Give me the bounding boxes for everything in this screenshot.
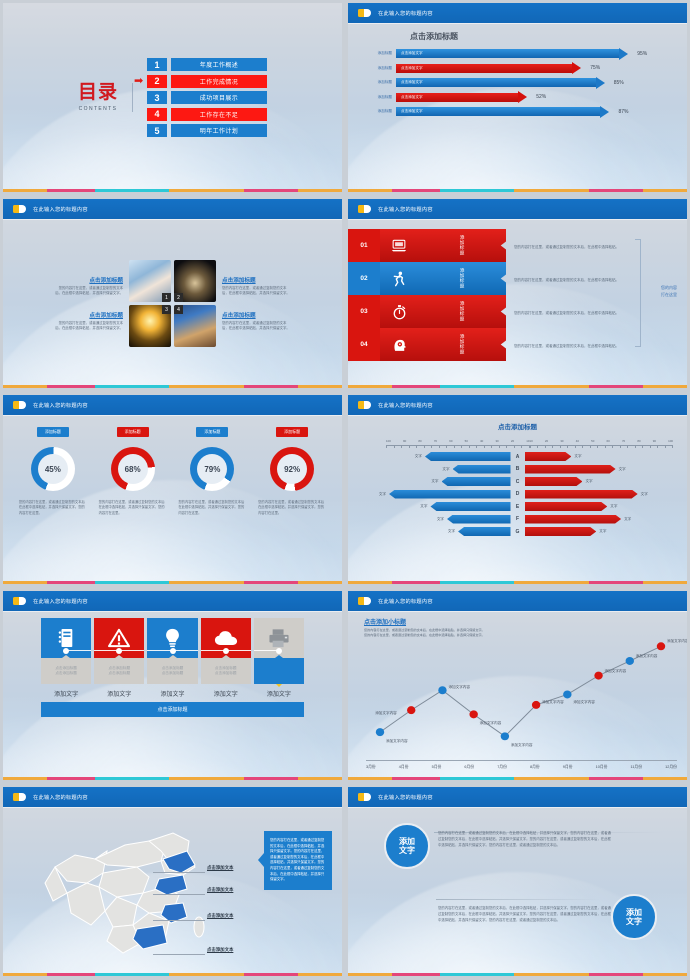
leader-line	[153, 872, 205, 873]
donut-chart-row: 添加标题45%您的内容打在这里，或者通过复制您的文本后在此框中选择粘贴，并选择只…	[13, 419, 332, 580]
axis-tick	[469, 446, 470, 448]
icon-card[interactable]: 点击添加标题点击添加标题添加文字	[201, 618, 251, 702]
right-label: 文字	[599, 529, 606, 534]
x-axis-line	[366, 760, 677, 761]
pointer-triangle-icon	[276, 684, 282, 687]
color-strip	[348, 973, 687, 976]
left-bar[interactable]	[425, 452, 511, 461]
row-key: A	[511, 454, 525, 460]
data-point[interactable]	[626, 657, 634, 665]
donut-chip-label[interactable]: 添加标题	[117, 427, 149, 437]
timeline-dot	[170, 648, 176, 654]
map-callout-label[interactable]: 点击添加文本	[207, 913, 233, 919]
axis-tick	[620, 446, 621, 448]
leader-line	[153, 920, 205, 921]
axis-tick	[567, 446, 568, 448]
bar-category: 添加标题	[366, 66, 392, 71]
donut-chip-label[interactable]: 添加标题	[276, 427, 308, 437]
arrow-head	[600, 106, 609, 118]
card-caption: 添加文字	[41, 684, 91, 702]
axis-tick	[386, 446, 387, 448]
arrow-bar[interactable]: 点击添加文字	[396, 49, 628, 58]
donut-ring: 45%	[31, 447, 75, 491]
axis-tick-label: 40	[480, 439, 483, 443]
data-point[interactable]	[563, 690, 571, 698]
strip-segment	[169, 385, 244, 388]
contents-row[interactable]: 5明年工作计划	[147, 124, 267, 137]
contents-row[interactable]: 1年度工作概述	[147, 58, 267, 71]
card-subtitle	[254, 658, 304, 684]
header-title: 在此输入您的标题内容	[378, 10, 433, 17]
strip-segment	[3, 189, 47, 192]
slide-header: 在此输入您的标题内容	[348, 199, 687, 219]
data-point[interactable]	[469, 710, 477, 718]
donut-ring: 79%	[190, 447, 234, 491]
strip-segment	[298, 385, 342, 388]
photo-2[interactable]: 2	[174, 260, 216, 302]
timeline-dot	[276, 648, 282, 654]
card-subtitle: 点击添加标题点击添加标题	[201, 658, 251, 684]
step-number: 04	[348, 328, 380, 361]
contents-label[interactable]: 成功项目展示	[171, 91, 267, 104]
strip-segment	[298, 581, 342, 584]
strip-segment	[244, 777, 298, 780]
badge-line: 添加	[626, 908, 642, 917]
axis-tick	[650, 446, 651, 448]
strip-segment	[169, 581, 244, 584]
row-key: E	[511, 504, 525, 510]
contents-title-block: 目录 CONTENTS	[78, 83, 133, 113]
badge-line: 文字	[399, 846, 415, 855]
left-bar[interactable]	[389, 490, 510, 499]
badge-circle-1[interactable]: 添加文字	[384, 823, 430, 869]
strip-segment	[244, 973, 298, 976]
donut-body: 您的内容打在这里，或者通过复制您的文本后在此框中选择粘贴，并选择只保留文字。您的…	[256, 500, 328, 516]
arrow-head	[619, 48, 628, 60]
right-bar[interactable]	[525, 515, 622, 524]
strip-segment	[47, 581, 94, 584]
axis-tick-label: 90	[653, 439, 656, 443]
contents-label[interactable]: 明年工作计划	[171, 124, 267, 137]
header-underline	[3, 415, 342, 416]
axis-tick	[612, 446, 613, 448]
slide-header: 在此输入您的标题内容	[348, 395, 687, 415]
block-title[interactable]: 点击添加标题	[222, 311, 290, 319]
arrow-head	[518, 91, 527, 103]
header-pill-icon	[13, 793, 26, 801]
strip-segment	[589, 189, 643, 192]
strip-segment	[514, 973, 589, 976]
axis-tick-label: 50	[591, 439, 594, 443]
step-ribbon-label[interactable]: 添加标题	[418, 262, 506, 295]
x-axis-label: 3月份	[366, 765, 376, 770]
point-label: 添加文字内容	[511, 743, 533, 748]
bar-value: 95%	[637, 51, 647, 57]
point-label: 添加文字内容	[480, 721, 502, 726]
strip-segment	[95, 973, 170, 976]
left-bar[interactable]	[453, 465, 511, 474]
donut-card: 添加标题79%您的内容打在这里，或者通过复制您的文本后在此框中选择粘贴，并选择只…	[176, 419, 248, 580]
strip-segment	[440, 189, 515, 192]
data-point[interactable]	[407, 706, 415, 714]
contents-number: 1	[147, 58, 167, 71]
arrow-bar[interactable]: 点击添加文字	[396, 64, 581, 73]
arrow-bar-row: 添加标题点击添加文字95%	[366, 49, 679, 58]
axis-tick	[597, 446, 598, 448]
bar-value: 75%	[590, 65, 600, 71]
slide-header: 在此输入您的标题内容	[3, 591, 342, 611]
strip-segment	[440, 581, 515, 584]
right-label: 文字	[585, 479, 592, 484]
step-ribbon-label[interactable]: 添加标题	[418, 328, 506, 361]
arrow-bar-row: 添加标题点击添加文字52%	[366, 93, 679, 102]
tornado-row: 文字B文字	[358, 465, 677, 474]
contents-list: 1年度工作概述➡2工作完成情况3成功项目展示4工作存在不足5明年工作计划	[147, 58, 267, 137]
axis-tick	[514, 446, 515, 448]
tornado-row: 文字D文字	[358, 490, 677, 499]
strip-segment	[440, 777, 515, 780]
header-underline	[348, 219, 687, 220]
step-ribbon-label[interactable]: 添加标题	[418, 229, 506, 262]
row-key: F	[511, 516, 525, 522]
header-pill-icon	[358, 205, 371, 213]
block-body: 您的内容打在这里，或者通过复制您的文本后，在此框中选择粘贴，并选择只保留文字。	[222, 321, 290, 332]
header-underline	[348, 23, 687, 24]
contents-row[interactable]: 3成功项目展示	[147, 91, 267, 104]
data-point[interactable]	[657, 642, 665, 650]
strip-segment	[47, 777, 94, 780]
map-callout-label[interactable]: 点击添加文本	[207, 947, 233, 953]
strip-segment	[392, 189, 439, 192]
arrow-bar[interactable]: 点击添加文字	[396, 107, 609, 116]
axis-tick	[642, 446, 643, 448]
strip-segment	[244, 189, 298, 192]
donut-value: 79%	[204, 465, 220, 474]
axis-tick	[454, 446, 455, 448]
bar-value: 85%	[614, 80, 624, 86]
strip-segment	[95, 581, 170, 584]
axis-tick-label: 80	[637, 439, 640, 443]
text-block: 点击添加标题您的内容打在这里，或者通过复制您的文本后，在此框中选择粘贴，并选择只…	[222, 311, 290, 332]
slide-deck: 目录 CONTENTS 1年度工作概述➡2工作完成情况3成功项目展示4工作存在不…	[0, 0, 690, 980]
header-underline	[348, 611, 687, 612]
axis-tick	[672, 446, 673, 448]
slide-2[interactable]: 在此输入您的标题内容 点击添加标题 添加标题点击添加文字95%添加标题点击添加文…	[345, 0, 690, 196]
block-title[interactable]: 点击添加标题	[55, 311, 123, 319]
text-block: 点击添加标题您的内容打在这里，或者通过复制您的文本后，在此框中选择粘贴，并选择只…	[55, 276, 123, 297]
right-label: 文字	[641, 492, 648, 497]
header-title: 在此输入您的标题内容	[33, 206, 88, 213]
strip-segment	[95, 385, 170, 388]
icon-card[interactable]: 点击添加标题点击添加标题添加文字	[41, 618, 91, 702]
right-bar[interactable]	[525, 452, 572, 461]
donut-body: 您的内容打在这里，或者通过复制您的文本后在此框中选择粘贴，并选择只保留文字。您的…	[97, 500, 169, 516]
icon-tile	[41, 618, 91, 658]
map-callout-label[interactable]: 点击添加文本	[207, 865, 233, 871]
text-block: 点击添加标题您的内容打在这里，或者通过复制您的文本后，在此框中选择粘贴，并选择只…	[222, 276, 290, 297]
block-body: 您的内容打在这里，或者通过复制您的文本后，在此框中选择粘贴，并选择只保留文字。	[222, 286, 290, 297]
chart-title: 点击添加标题	[348, 421, 687, 431]
bar-value: 87%	[618, 109, 628, 115]
bar-value: 52%	[536, 94, 546, 100]
contents-number: 3	[147, 91, 167, 104]
strip-segment	[392, 777, 439, 780]
donut-body: 您的内容打在这里，或者通过复制您的文本后在此框中选择粘贴，并选择只保留文字。您的…	[17, 500, 89, 516]
left-bar[interactable]	[458, 527, 510, 536]
left-label: 文字	[379, 492, 386, 497]
contents-title-en: CONTENTS	[78, 106, 118, 112]
icon-card[interactable]: 点击添加标题点击添加标题添加文字	[94, 618, 144, 702]
right-bar[interactable]	[525, 490, 638, 499]
slide-6[interactable]: 在此输入您的标题内容 点击添加标题 100908070605040302010 …	[345, 392, 690, 588]
strip-segment	[589, 581, 643, 584]
donut-chip-label[interactable]: 添加标题	[37, 427, 69, 437]
tornado-row: 文字G文字	[358, 527, 677, 536]
strip-segment	[348, 385, 392, 388]
bar-category: 添加标题	[366, 95, 392, 100]
arrow-bar-row: 添加标题点击添加文字85%	[366, 78, 679, 87]
axis-tick-label: 30	[560, 439, 563, 443]
left-label: 文字	[442, 467, 449, 472]
card-subtitle: 点击添加标题点击添加标题	[147, 658, 197, 684]
point-label: 添加文字内容	[605, 669, 627, 674]
brace-bracket	[635, 239, 641, 347]
data-point[interactable]	[376, 728, 384, 736]
photo-4[interactable]: 4	[174, 305, 216, 347]
axis-tick	[424, 446, 425, 448]
header-title: 在此输入您的标题内容	[378, 402, 433, 409]
badge-line: 文字	[626, 917, 642, 926]
slide-header: 在此输入您的标题内容	[348, 591, 687, 611]
timeline-line	[66, 650, 91, 651]
icon-card[interactable]: 点击添加标题点击添加标题添加文字	[147, 618, 197, 702]
right-text-column: 点击添加标题您的内容打在这里，或者通过复制您的文本后，在此框中选择粘贴，并选择只…	[222, 276, 290, 332]
right-bar[interactable]	[525, 465, 616, 474]
strip-segment	[643, 973, 687, 976]
arrow-bar-chart: 添加标题点击添加文字95%添加标题点击添加文字75%添加标题点击添加文字85%添…	[366, 49, 679, 116]
side-label: 您的内容打在这里	[661, 285, 677, 299]
slide-9[interactable]: 在此输入您的标题内容 点击添加文本点击添加文本点击添加文本点击添加文本 您的内容…	[0, 784, 345, 980]
contents-label[interactable]: 年度工作概述	[171, 58, 267, 71]
tornado-row: 文字C文字	[358, 477, 677, 486]
axis-tick	[537, 446, 538, 448]
slide-header: 在此输入您的标题内容	[3, 787, 342, 807]
point-label: 添加文字内容	[573, 700, 595, 705]
slide-5[interactable]: 在此输入您的标题内容 添加标题45%您的内容打在这里，或者通过复制您的文本后在此…	[0, 392, 345, 588]
right-label: 文字	[624, 517, 631, 522]
strip-segment	[244, 385, 298, 388]
x-axis-labels: 3月份4月份5月份6月份7月份8月份9月份10月份11月份12月份	[366, 765, 677, 770]
icon-card[interactable]: 添加文字	[254, 618, 304, 702]
header-pill-icon	[358, 793, 371, 801]
badge-circle-2[interactable]: 添加文字	[611, 894, 657, 940]
block-body: 您的内容打在这里，或者通过复制您的文本后，在此框中选择粘贴，并选择只保留文字。	[55, 286, 123, 297]
x-axis-label: 5月份	[432, 765, 442, 770]
step-number: 01	[348, 229, 380, 262]
contents-number: 5	[147, 124, 167, 137]
contents-number: 2	[147, 75, 167, 88]
donut-chip-label[interactable]: 添加标题	[196, 427, 228, 437]
axis-tick	[521, 446, 522, 448]
right-label: 文字	[619, 467, 626, 472]
strip-segment	[514, 189, 589, 192]
data-point[interactable]	[438, 686, 446, 694]
x-axis-label: 10月份	[596, 765, 608, 770]
point-label: 添加文字内容	[542, 700, 564, 705]
axis-tick	[476, 446, 477, 448]
header-pill-icon	[13, 597, 26, 605]
donut-value: 92%	[284, 465, 300, 474]
header-underline	[348, 807, 687, 808]
bar-text: 点击添加文字	[396, 93, 518, 102]
paragraph-2: 您的内容打在这里，或者通过复制您的文本后，在此框中选择粘贴，并选择只保留文字。您…	[438, 906, 613, 924]
footer-banner[interactable]: 点击添加标题	[41, 702, 304, 717]
right-bar[interactable]	[525, 477, 583, 486]
slide-4[interactable]: 在此输入您的标题内容 01020304 添加标题添加标题添加标题添加标题 您的内…	[345, 196, 690, 392]
strip-segment	[514, 385, 589, 388]
contents-row[interactable]: 4工作存在不足	[147, 108, 267, 121]
divider-bottom	[436, 899, 601, 900]
axis-tick-label: 20	[545, 439, 548, 443]
strip-segment	[348, 581, 392, 584]
step-text-column: 您的内容打在这里，或者通过复制您的文本后，在此框中选择粘贴。您的内容打在这里，或…	[514, 231, 634, 363]
header-title: 在此输入您的标题内容	[378, 598, 433, 605]
color-strip	[348, 189, 687, 192]
data-point[interactable]	[501, 732, 509, 740]
axis-tick	[545, 446, 546, 448]
x-axis-label: 4月份	[399, 765, 409, 770]
axis-tick	[627, 446, 628, 448]
axis-tick	[394, 446, 395, 448]
bar-category: 添加标题	[366, 80, 392, 85]
header-pill-icon	[13, 205, 26, 213]
card-subtitle: 点击添加标题点击添加标题	[41, 658, 91, 684]
axis-tick-label: 50	[465, 439, 468, 443]
photo-4-tag: 4	[174, 305, 183, 314]
slide-10[interactable]: 在此输入您的标题内容 添加文字 您的内容打在这里，或者通过复制您的文本后，在此框…	[345, 784, 690, 980]
contents-label[interactable]: 工作存在不足	[171, 108, 267, 121]
header-title: 在此输入您的标题内容	[33, 598, 88, 605]
data-point[interactable]	[532, 701, 540, 709]
leader-line	[153, 894, 205, 895]
row-key: G	[511, 529, 525, 535]
contents-label[interactable]: 工作完成情况	[171, 75, 267, 88]
right-bar[interactable]	[525, 527, 597, 536]
header-pill-icon	[13, 401, 26, 409]
axis-tick	[491, 446, 492, 448]
leader-line	[153, 954, 205, 955]
slide-8[interactable]: 在此输入您的标题内容 点击添加小标题 您的内容打在这里，或者通过复制您的文本后，…	[345, 588, 690, 784]
strip-segment	[298, 973, 342, 976]
step-body: 您的内容打在这里，或者通过复制您的文本后，在此框中选择粘贴。	[514, 231, 634, 264]
arrow-head	[596, 77, 605, 89]
step-number-column: 01020304	[348, 229, 380, 361]
photo-3[interactable]: 3	[129, 305, 171, 347]
strip-segment	[95, 189, 170, 192]
strip-segment	[440, 385, 515, 388]
arrow-bar[interactable]: 点击添加文字	[396, 78, 605, 87]
strip-segment	[348, 777, 392, 780]
donut-card: 添加标题68%您的内容打在这里，或者通过复制您的文本后在此框中选择粘贴，并选择只…	[97, 419, 169, 580]
axis-tick	[582, 446, 583, 448]
timeline-dot	[63, 648, 69, 654]
badge-line: 添加	[399, 837, 415, 846]
step-ribbon-label[interactable]: 添加标题	[418, 295, 506, 328]
strip-segment	[514, 581, 589, 584]
color-strip	[348, 777, 687, 780]
color-strip	[348, 385, 687, 388]
map-callout-label[interactable]: 点击添加文本	[207, 887, 233, 893]
header-title: 在此输入您的标题内容	[378, 206, 433, 213]
map-description-box: 您的内容打在这里，或者通过复制您的文本后，在此框中选择粘贴，并选择只保留文字。您…	[264, 831, 332, 890]
point-label: 添加文字内容	[386, 739, 408, 744]
strip-segment	[589, 385, 643, 388]
color-strip	[348, 581, 687, 584]
x-axis-label: 11月份	[630, 765, 642, 770]
tornado-row: 文字E文字	[358, 502, 677, 511]
left-bar[interactable]	[447, 515, 510, 524]
arrow-bar[interactable]: 点击添加文字	[396, 93, 527, 102]
axis-tick	[506, 446, 507, 448]
strip-segment	[95, 777, 170, 780]
axis-tick-label: 80	[418, 439, 421, 443]
left-bar[interactable]	[442, 477, 511, 486]
strip-segment	[47, 973, 94, 976]
image-grid: 1 2 3 4	[129, 260, 216, 347]
photo-1[interactable]: 1	[129, 260, 171, 302]
slide-7[interactable]: 在此输入您的标题内容 点击添加标题点击添加标题添加文字点击添加标题点击添加标题添…	[0, 588, 345, 784]
tornado-row: 文字A文字	[358, 452, 677, 461]
strip-segment	[589, 973, 643, 976]
photo-2-tag: 2	[174, 293, 183, 302]
left-label: 文字	[448, 529, 455, 534]
slide-1[interactable]: 目录 CONTENTS 1年度工作概述➡2工作完成情况3成功项目展示4工作存在不…	[0, 0, 345, 196]
axis-tick-label: 60	[449, 439, 452, 443]
block-title[interactable]: 点击添加标题	[222, 276, 290, 284]
axis-tick-label: 40	[576, 439, 579, 443]
callout-leader-lines: 点击添加文本点击添加文本点击添加文本点击添加文本	[153, 843, 263, 943]
slide-3[interactable]: 在此输入您的标题内容 点击添加标题您的内容打在这里，或者通过复制您的文本后，在此…	[0, 196, 345, 392]
axis-tick	[484, 446, 485, 448]
strip-segment	[348, 189, 392, 192]
axis-tick	[409, 446, 410, 448]
stopwatch-icon	[380, 295, 418, 328]
left-label: 文字	[420, 504, 427, 509]
runner-icon	[380, 262, 418, 295]
strip-segment	[392, 385, 439, 388]
left-bar[interactable]	[430, 502, 510, 511]
strip-segment	[47, 189, 94, 192]
left-label: 文字	[431, 479, 438, 484]
strip-segment	[589, 777, 643, 780]
bar-text: 点击添加文字	[396, 107, 600, 116]
strip-segment	[3, 973, 47, 976]
axis-tick	[605, 446, 606, 448]
donut-ring: 92%	[270, 447, 314, 491]
right-bar[interactable]	[525, 502, 608, 511]
donut-card: 添加标题92%您的内容打在这里，或者通过复制您的文本后在此框中选择粘贴，并选择只…	[256, 419, 328, 580]
block-title[interactable]: 点击添加标题	[55, 276, 123, 284]
row-key: C	[511, 479, 525, 485]
color-strip	[3, 581, 342, 584]
header-pill-icon	[358, 9, 371, 17]
strip-segment	[348, 973, 392, 976]
data-point[interactable]	[594, 672, 602, 680]
head-gear-icon	[380, 328, 418, 361]
strip-segment	[169, 777, 244, 780]
contents-row[interactable]: ➡2工作完成情况	[147, 75, 267, 88]
axis-tick-label: 70	[434, 439, 437, 443]
